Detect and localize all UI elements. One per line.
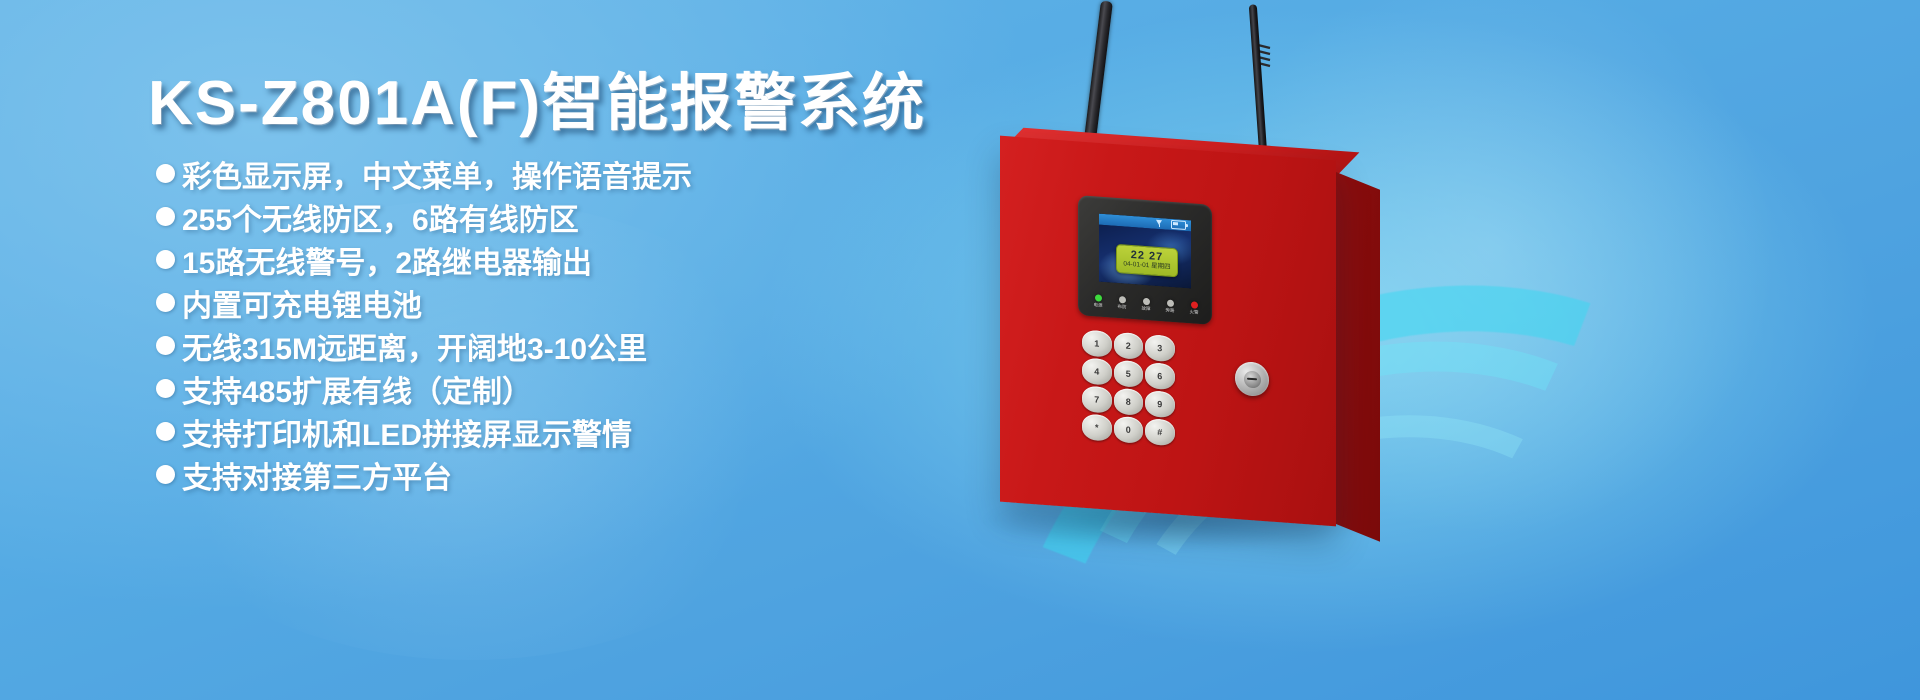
feature-text: 支持对接第三方平台 — [182, 453, 452, 497]
led-indicator-fault: 故障 — [1142, 298, 1151, 313]
bullet-icon — [156, 293, 175, 312]
bullet-icon — [156, 207, 175, 226]
feature-text: 彩色显示屏，中文菜单，操作语音提示 — [182, 152, 692, 196]
key-star[interactable]: * — [1082, 413, 1112, 441]
feature-text: 无线315M远距离，开阔地3-10公里 — [182, 324, 647, 368]
led-label: 电源 — [1094, 302, 1103, 309]
bypass-led-icon — [1167, 300, 1174, 308]
feature-text: 15路无线警号，2路继电器输出 — [182, 238, 592, 282]
bullet-icon — [156, 465, 175, 484]
list-item: 彩色显示屏，中文菜单，操作语音提示 — [156, 152, 692, 195]
led-indicator-alarm: 火警 — [1190, 301, 1199, 316]
lcd-screen[interactable]: 22 27 04-01-01 星期四 — [1099, 214, 1191, 289]
lock-slot — [1247, 377, 1257, 380]
cabinet-front-face — [1000, 136, 1336, 527]
signal-icon — [1156, 220, 1163, 228]
keypad[interactable]: 1 2 3 4 5 6 7 8 9 * 0 # — [1082, 329, 1206, 448]
feature-list: 彩色显示屏，中文菜单，操作语音提示 255个无线防区，6路有线防区 15路无线警… — [156, 152, 692, 496]
led-indicator-arm: 布防 — [1118, 296, 1127, 311]
list-item: 内置可充电锂电池 — [156, 281, 692, 324]
key-4[interactable]: 4 — [1082, 357, 1112, 385]
product-banner: KS-Z801A(F)智能报警系统 彩色显示屏，中文菜单，操作语音提示 255个… — [0, 0, 1920, 700]
bullet-icon — [156, 379, 175, 398]
feature-text: 支持485扩展有线（定制） — [182, 367, 532, 411]
bullet-icon — [156, 422, 175, 441]
battery-icon — [1171, 220, 1186, 230]
alarm-led-icon — [1191, 301, 1198, 309]
led-label: 布防 — [1118, 304, 1127, 311]
key-2[interactable]: 2 — [1114, 332, 1144, 360]
led-indicator-power: 电源 — [1094, 294, 1103, 309]
page-title: KS-Z801A(F)智能报警系统 — [148, 52, 926, 142]
key-hash[interactable]: # — [1145, 418, 1175, 446]
key-1[interactable]: 1 — [1082, 329, 1112, 357]
led-label: 火警 — [1190, 309, 1199, 316]
led-label: 故障 — [1142, 306, 1151, 313]
lock-core — [1244, 370, 1261, 388]
feature-text: 内置可充电锂电池 — [182, 281, 422, 325]
key-spacer-3 — [1177, 392, 1207, 420]
bullet-icon — [156, 250, 175, 269]
list-item: 255个无线防区，6路有线防区 — [156, 195, 692, 238]
bullet-icon — [156, 164, 175, 183]
bullet-icon — [156, 336, 175, 355]
lcd-clock-widget: 22 27 04-01-01 星期四 — [1116, 244, 1178, 278]
key-3[interactable]: 3 — [1145, 334, 1175, 362]
list-item: 15路无线警号，2路继电器输出 — [156, 238, 692, 281]
key-7[interactable]: 7 — [1082, 385, 1112, 413]
led-label: 旁路 — [1166, 307, 1175, 314]
key-8[interactable]: 8 — [1114, 388, 1144, 416]
key-9[interactable]: 9 — [1145, 390, 1175, 418]
banner-text-block: KS-Z801A(F)智能报警系统 彩色显示屏，中文菜单，操作语音提示 255个… — [0, 0, 960, 700]
list-item: 支持485扩展有线（定制） — [156, 367, 692, 410]
lcd-date: 04-01-01 星期四 — [1123, 260, 1170, 271]
fault-led-icon — [1143, 298, 1150, 306]
key-0[interactable]: 0 — [1114, 416, 1144, 444]
feature-text: 支持打印机和LED拼接屏显示警情 — [182, 410, 632, 454]
key-spacer-1 — [1177, 336, 1207, 364]
list-item: 支持打印机和LED拼接屏显示警情 — [156, 410, 692, 453]
led-indicator-bypass: 旁路 — [1166, 299, 1175, 314]
feature-text: 255个无线防区，6路有线防区 — [182, 195, 579, 239]
key-spacer-2 — [1177, 364, 1207, 392]
lcd-wallpaper: 22 27 04-01-01 星期四 — [1099, 225, 1191, 289]
list-item: 支持对接第三方平台 — [156, 453, 692, 496]
list-item: 无线315M远距离，开阔地3-10公里 — [156, 324, 692, 367]
key-6[interactable]: 6 — [1145, 362, 1175, 390]
cabinet-side-face — [1336, 172, 1380, 542]
power-led-icon — [1095, 294, 1102, 302]
arm-led-icon — [1119, 296, 1126, 304]
key-spacer-4 — [1177, 420, 1207, 448]
key-5[interactable]: 5 — [1114, 360, 1144, 388]
